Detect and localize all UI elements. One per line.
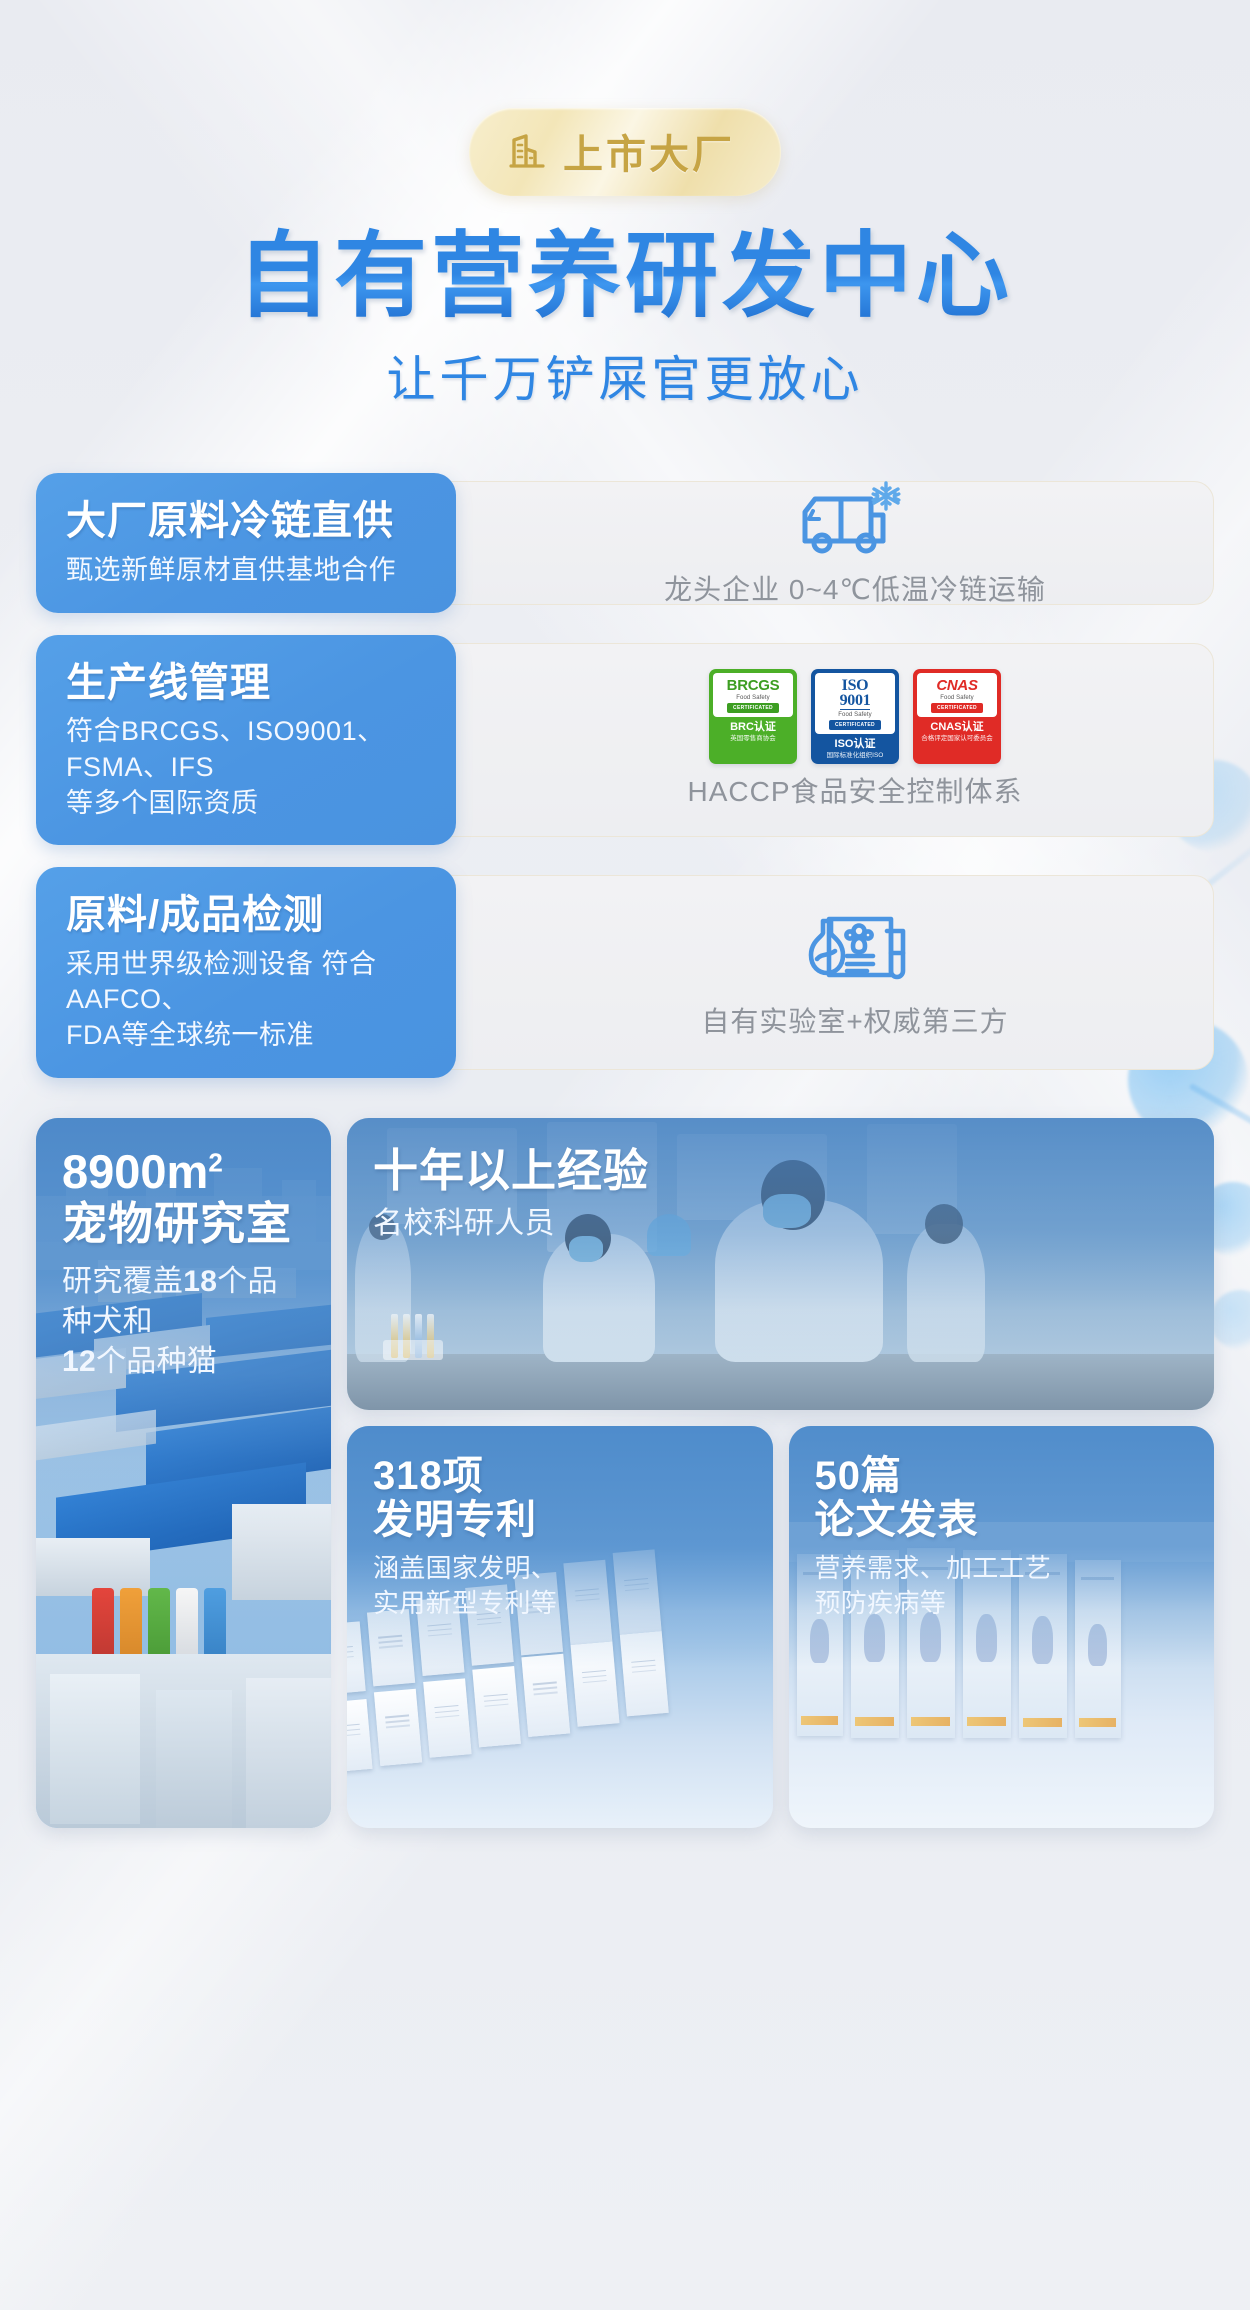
certificate-mark: CNAS: [936, 678, 977, 693]
patents-count: 318项: [373, 1454, 747, 1499]
patents-title: 发明专利: [373, 1498, 747, 1543]
certificate-face: ISO 9001 Food Safety CERTIFICATED: [815, 673, 895, 734]
certificate-name: ISO认证: [813, 738, 897, 750]
feature-card-desc-line2: FDA等全球统一标准: [66, 1018, 426, 1054]
feature-card-desc-line1: 符合BRCGS、ISO9001、FSMA、IFS: [66, 714, 426, 785]
certificate-name: BRC认证: [711, 721, 795, 733]
feature-card-testing: 原料/成品检测 采用世界级检测设备 符合AAFCO、 FDA等全球统一标准: [36, 867, 456, 1077]
feature-card-desc: 甄选新鲜原材直供基地合作: [66, 553, 426, 589]
papers-title: 论文发表: [815, 1498, 1189, 1543]
certificate-mark: BRCGS: [727, 678, 780, 693]
feature-row-cold-chain: 龙头企业 0~4℃低温冷链运输 大厂原料冷链直供 甄选新鲜原材直供基地合作: [36, 473, 1214, 612]
feature-row-testing: 自有实验室+权威第三方 原料/成品检测 采用世界级检测设备 符合AAFCO、 F…: [36, 867, 1214, 1077]
certificate-face: CNAS Food Safety CERTIFICATED: [917, 673, 997, 717]
stat-card-research-room: 8900m2 宠物研究室 研究覆盖18个品种犬和 12个品种猫: [36, 1118, 331, 1828]
certificate-caption: CNAS认证 合格评定国家认可委员会: [913, 717, 1001, 747]
page-subtitle: 让千万铲屎官更放心: [0, 340, 1250, 411]
stat-card-papers: 50篇 论文发表 营养需求、加工工艺 预防疾病等: [789, 1426, 1215, 1828]
stats-grid: 8900m2 宠物研究室 研究覆盖18个品种犬和 12个品种猫: [0, 1118, 1250, 1828]
stat-card-text: 十年以上经验 名校科研人员: [347, 1118, 1214, 1245]
page-title: 自有营养研发中心: [0, 226, 1250, 326]
certificate-ribbon: CERTIFICATED: [727, 703, 779, 713]
certificate-caption: ISO认证 国际标准化组织ISO: [811, 734, 899, 764]
research-room-area: 8900m2: [62, 1146, 305, 1198]
feature-list: 龙头企业 0~4℃低温冷链运输 大厂原料冷链直供 甄选新鲜原材直供基地合作 BR…: [0, 473, 1250, 1077]
certificate-caption: BRC认证 英国零售商协会: [709, 717, 797, 747]
certificate-iso9001: ISO 9001 Food Safety CERTIFICATED ISO认证 …: [811, 669, 899, 764]
certificate-org: 国际标准化组织ISO: [813, 752, 897, 760]
certificate-face: BRCGS Food Safety CERTIFICATED: [713, 673, 793, 717]
certificate-ribbon: CERTIFICATED: [931, 703, 983, 713]
certificate-name: CNAS认证: [915, 721, 999, 733]
papers-count: 50篇: [815, 1454, 1189, 1499]
patents-desc-line1: 涵盖国家发明、: [373, 1551, 747, 1586]
feature-card-title: 生产线管理: [66, 661, 426, 707]
factory-building-icon: [509, 131, 549, 171]
certificate-org: 英国零售商协会: [711, 735, 795, 743]
papers-desc-line2: 预防疾病等: [815, 1586, 1189, 1621]
refrigerated-truck-icon: [793, 479, 917, 562]
certificate-brcgs: BRCGS Food Safety CERTIFICATED BRC认证 英国零…: [709, 669, 797, 764]
papers-desc-line1: 营养需求、加工工艺: [815, 1551, 1189, 1586]
certificate-cnas: CNAS Food Safety CERTIFICATED CNAS认证 合格评…: [913, 669, 1001, 764]
stat-card-text: 50篇 论文发表 营养需求、加工工艺 预防疾病等: [789, 1426, 1215, 1621]
feature-side-panel: 龙头企业 0~4℃低温冷链运输: [366, 481, 1214, 604]
feature-card-desc-line1: 采用世界级检测设备 符合AAFCO、: [66, 947, 426, 1018]
stat-card-text: 318项 发明专利 涵盖国家发明、 实用新型专利等: [347, 1426, 773, 1621]
stats-bottom-row: 318项 发明专利 涵盖国家发明、 实用新型专利等: [347, 1426, 1214, 1828]
certificate-standard: Food Safety: [940, 695, 973, 701]
experience-desc: 名校科研人员: [373, 1204, 1188, 1244]
area-unit-superscript: 2: [208, 1147, 222, 1177]
certificate-mark-line2: 9001: [840, 693, 871, 710]
stat-card-text: 8900m2 宠物研究室 研究覆盖18个品种犬和 12个品种猫: [36, 1118, 331, 1383]
feature-side-panel: BRCGS Food Safety CERTIFICATED BRC认证 英国零…: [366, 643, 1214, 837]
feature-side-caption: 龙头企业 0~4℃低温冷链运输: [664, 568, 1046, 608]
listed-company-badge: 上市大厂: [469, 108, 781, 196]
badge-label: 上市大厂: [563, 122, 735, 180]
research-room-desc: 研究覆盖18个品种犬和 12个品种猫: [62, 1262, 305, 1383]
certificate-org: 合格评定国家认可委员会: [915, 735, 999, 743]
feature-card-cold-chain: 大厂原料冷链直供 甄选新鲜原材直供基地合作: [36, 473, 456, 612]
feature-side-caption: 自有实验室+权威第三方: [701, 1000, 1008, 1040]
certificate-ribbon: CERTIFICATED: [829, 720, 881, 730]
experience-title: 十年以上经验: [373, 1146, 1188, 1196]
certification-badge-group: BRCGS Food Safety CERTIFICATED BRC认证 英国零…: [709, 669, 1001, 764]
patents-desc-line2: 实用新型专利等: [373, 1586, 747, 1621]
feature-side-caption: HACCP食品安全控制体系: [687, 770, 1022, 810]
header: 上市大厂 自有营养研发中心 让千万铲屎官更放心: [0, 0, 1250, 411]
stat-card-experience: 十年以上经验 名校科研人员: [347, 1118, 1214, 1410]
stat-card-patents: 318项 发明专利 涵盖国家发明、 实用新型专利等: [347, 1426, 773, 1828]
certificate-standard: Food Safety: [838, 712, 871, 718]
research-room-title: 宠物研究室: [62, 1199, 305, 1249]
lab-flask-certificate-icon: [795, 905, 915, 994]
feature-card-desc-line2: 等多个国际资质: [66, 786, 426, 822]
feature-row-production-line: BRCGS Food Safety CERTIFICATED BRC认证 英国零…: [36, 635, 1214, 845]
certificate-standard: Food Safety: [736, 695, 769, 701]
feature-side-panel: 自有实验室+权威第三方: [366, 875, 1214, 1069]
feature-card-production-line: 生产线管理 符合BRCGS、ISO9001、FSMA、IFS 等多个国际资质: [36, 635, 456, 845]
feature-card-title: 大厂原料冷链直供: [66, 499, 426, 545]
feature-card-title: 原料/成品检测: [66, 893, 426, 939]
